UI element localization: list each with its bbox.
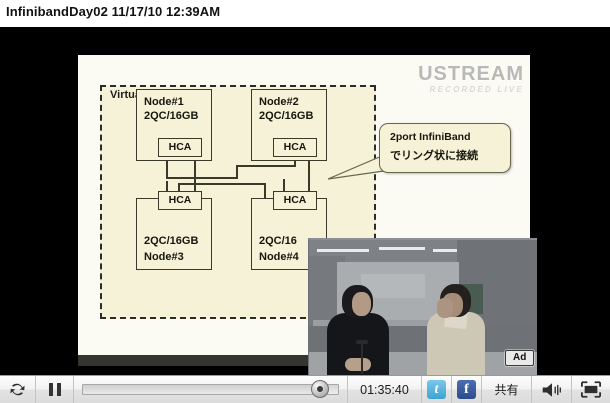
wire-top-left-h: [166, 177, 238, 179]
watermark-main-text: USTREAM: [418, 65, 524, 84]
hca-box-1: HCA: [158, 138, 202, 157]
person-right-hand: [437, 298, 453, 318]
callout-bubble: 2port InfiniBand でリング状に接続: [379, 123, 511, 173]
pause-button[interactable]: [36, 376, 74, 403]
facebook-icon: f: [457, 380, 476, 399]
node-3-spec: 2QC/16GB: [144, 235, 198, 248]
twitter-icon: t: [427, 380, 446, 399]
progress-fill: [83, 385, 320, 394]
node-4-name: Node#4: [259, 251, 299, 264]
callout-line-2: でリング状に接続: [390, 147, 478, 163]
pause-icon: [47, 383, 63, 396]
progress-track[interactable]: [82, 384, 339, 395]
person-left-face: [352, 292, 371, 316]
video-player[interactable]: USTREAM RECORDED LIVE Virtual SMP Node#1…: [0, 27, 610, 403]
player-control-bar[interactable]: 01:35:40 t f 共有: [0, 375, 610, 403]
node-1-name: Node#1: [144, 96, 184, 109]
node-2-spec: 2QC/16GB: [259, 110, 313, 123]
ceiling-light-2: [379, 247, 425, 250]
ceiling-light-1: [317, 249, 369, 252]
hca-box-2: HCA: [273, 138, 317, 157]
node-2-name: Node#2: [259, 96, 299, 109]
callout-line-1: 2port InfiniBand: [390, 131, 471, 143]
fullscreen-button[interactable]: [572, 376, 610, 403]
volume-button[interactable]: [532, 376, 572, 403]
node-3-name: Node#3: [144, 251, 184, 264]
wire-top-mid-v: [236, 165, 238, 179]
wire-top-right-h: [236, 165, 296, 167]
ad-badge[interactable]: Ad: [505, 350, 534, 366]
share-button[interactable]: 共有: [482, 376, 532, 403]
watermark-sub-text: RECORDED LIVE: [418, 85, 524, 94]
fullscreen-icon: [581, 381, 601, 398]
wire-bottom-h: [178, 183, 266, 185]
callout-pointer: [328, 155, 384, 181]
facebook-share-button[interactable]: f: [452, 376, 482, 403]
wire-hca3-stub: [166, 181, 168, 191]
replay-button[interactable]: [0, 376, 36, 403]
hca-box-3: HCA: [158, 191, 202, 210]
microphone-stem: [361, 344, 363, 374]
node-1-spec: 2QC/16GB: [144, 110, 198, 123]
webcam-overlay[interactable]: Ad: [308, 238, 537, 375]
node-4-spec: 2QC/16: [259, 235, 297, 248]
twitter-share-button[interactable]: t: [422, 376, 452, 403]
ustream-watermark: USTREAM RECORDED LIVE: [418, 65, 524, 94]
progress-scrubber[interactable]: [311, 380, 329, 398]
volume-icon: [541, 382, 563, 398]
seek-bar[interactable]: [74, 376, 348, 403]
microphone-head: [356, 340, 368, 344]
replay-icon: [9, 381, 26, 398]
hca-box-4: HCA: [273, 191, 317, 210]
wire-hca4-up: [283, 179, 285, 191]
person-left-hands: [345, 358, 371, 371]
video-stage[interactable]: USTREAM RECORDED LIVE Virtual SMP Node#1…: [0, 27, 610, 375]
page-title: InfinibandDay02 11/17/10 12:39AM: [6, 4, 220, 19]
time-display: 01:35:40: [348, 376, 422, 403]
